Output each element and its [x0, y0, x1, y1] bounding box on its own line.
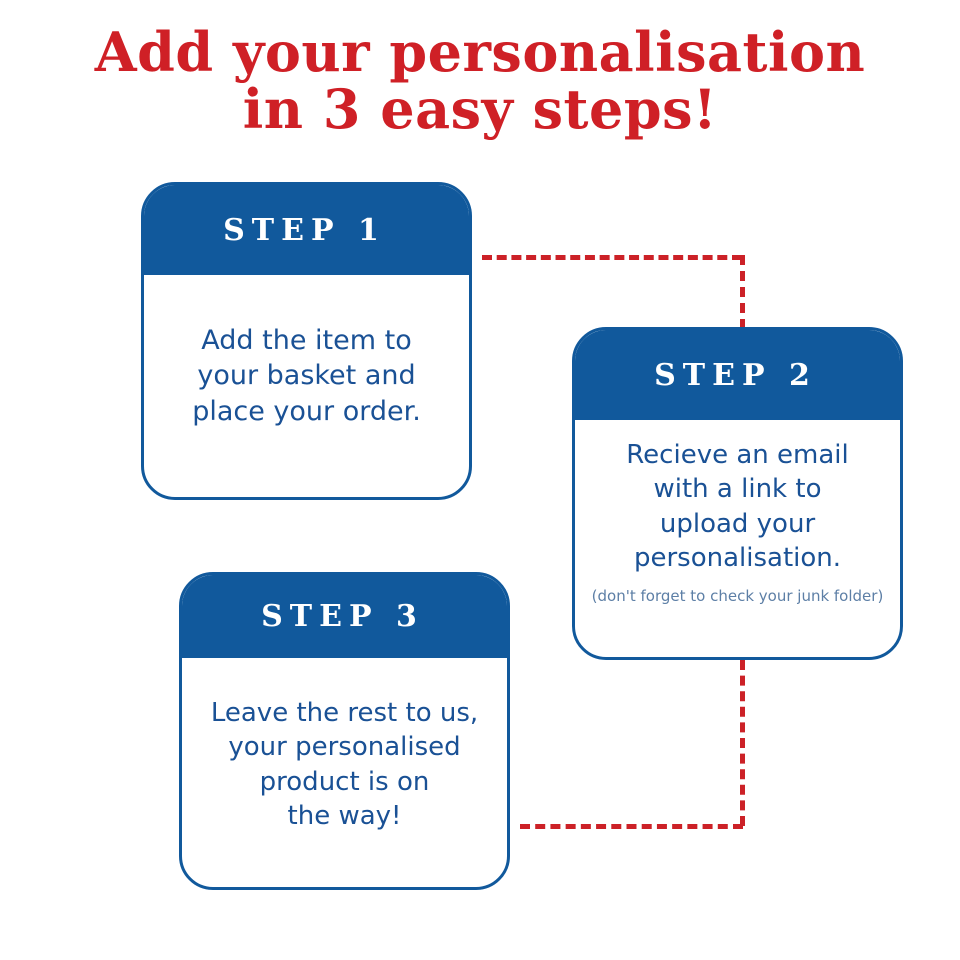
infographic-canvas: Add your personalisation in 3 easy steps… — [0, 0, 960, 960]
step-card-2: STEP 2 Recieve an email with a link to u… — [572, 327, 903, 660]
step-3-text: Leave the rest to us, your personalised … — [211, 696, 478, 833]
page-title: Add your personalisation in 3 easy steps… — [0, 24, 960, 138]
connector-step1-to-step2-vertical — [740, 255, 745, 329]
page-title-line-2: in 3 easy steps! — [0, 81, 960, 138]
connector-step1-to-step2-horizontal — [482, 255, 742, 260]
page-title-line-1: Add your personalisation — [0, 24, 960, 81]
step-2-note: (don't forget to check your junk folder) — [592, 587, 884, 605]
connector-step2-to-step3-horizontal — [520, 824, 743, 829]
step-1-body: Add the item to your basket and place yo… — [144, 275, 469, 497]
step-card-1: STEP 1 Add the item to your basket and p… — [141, 182, 472, 500]
step-1-header: STEP 1 — [144, 185, 469, 275]
step-2-text: Recieve an email with a link to upload y… — [626, 438, 848, 575]
step-card-3: STEP 3 Leave the rest to us, your person… — [179, 572, 510, 890]
step-2-body: Recieve an email with a link to upload y… — [575, 420, 900, 657]
step-3-header: STEP 3 — [182, 575, 507, 658]
step-3-body: Leave the rest to us, your personalised … — [182, 658, 507, 887]
connector-step2-to-step3-vertical — [740, 660, 745, 826]
step-1-text: Add the item to your basket and place yo… — [192, 323, 421, 428]
step-2-header: STEP 2 — [575, 330, 900, 420]
